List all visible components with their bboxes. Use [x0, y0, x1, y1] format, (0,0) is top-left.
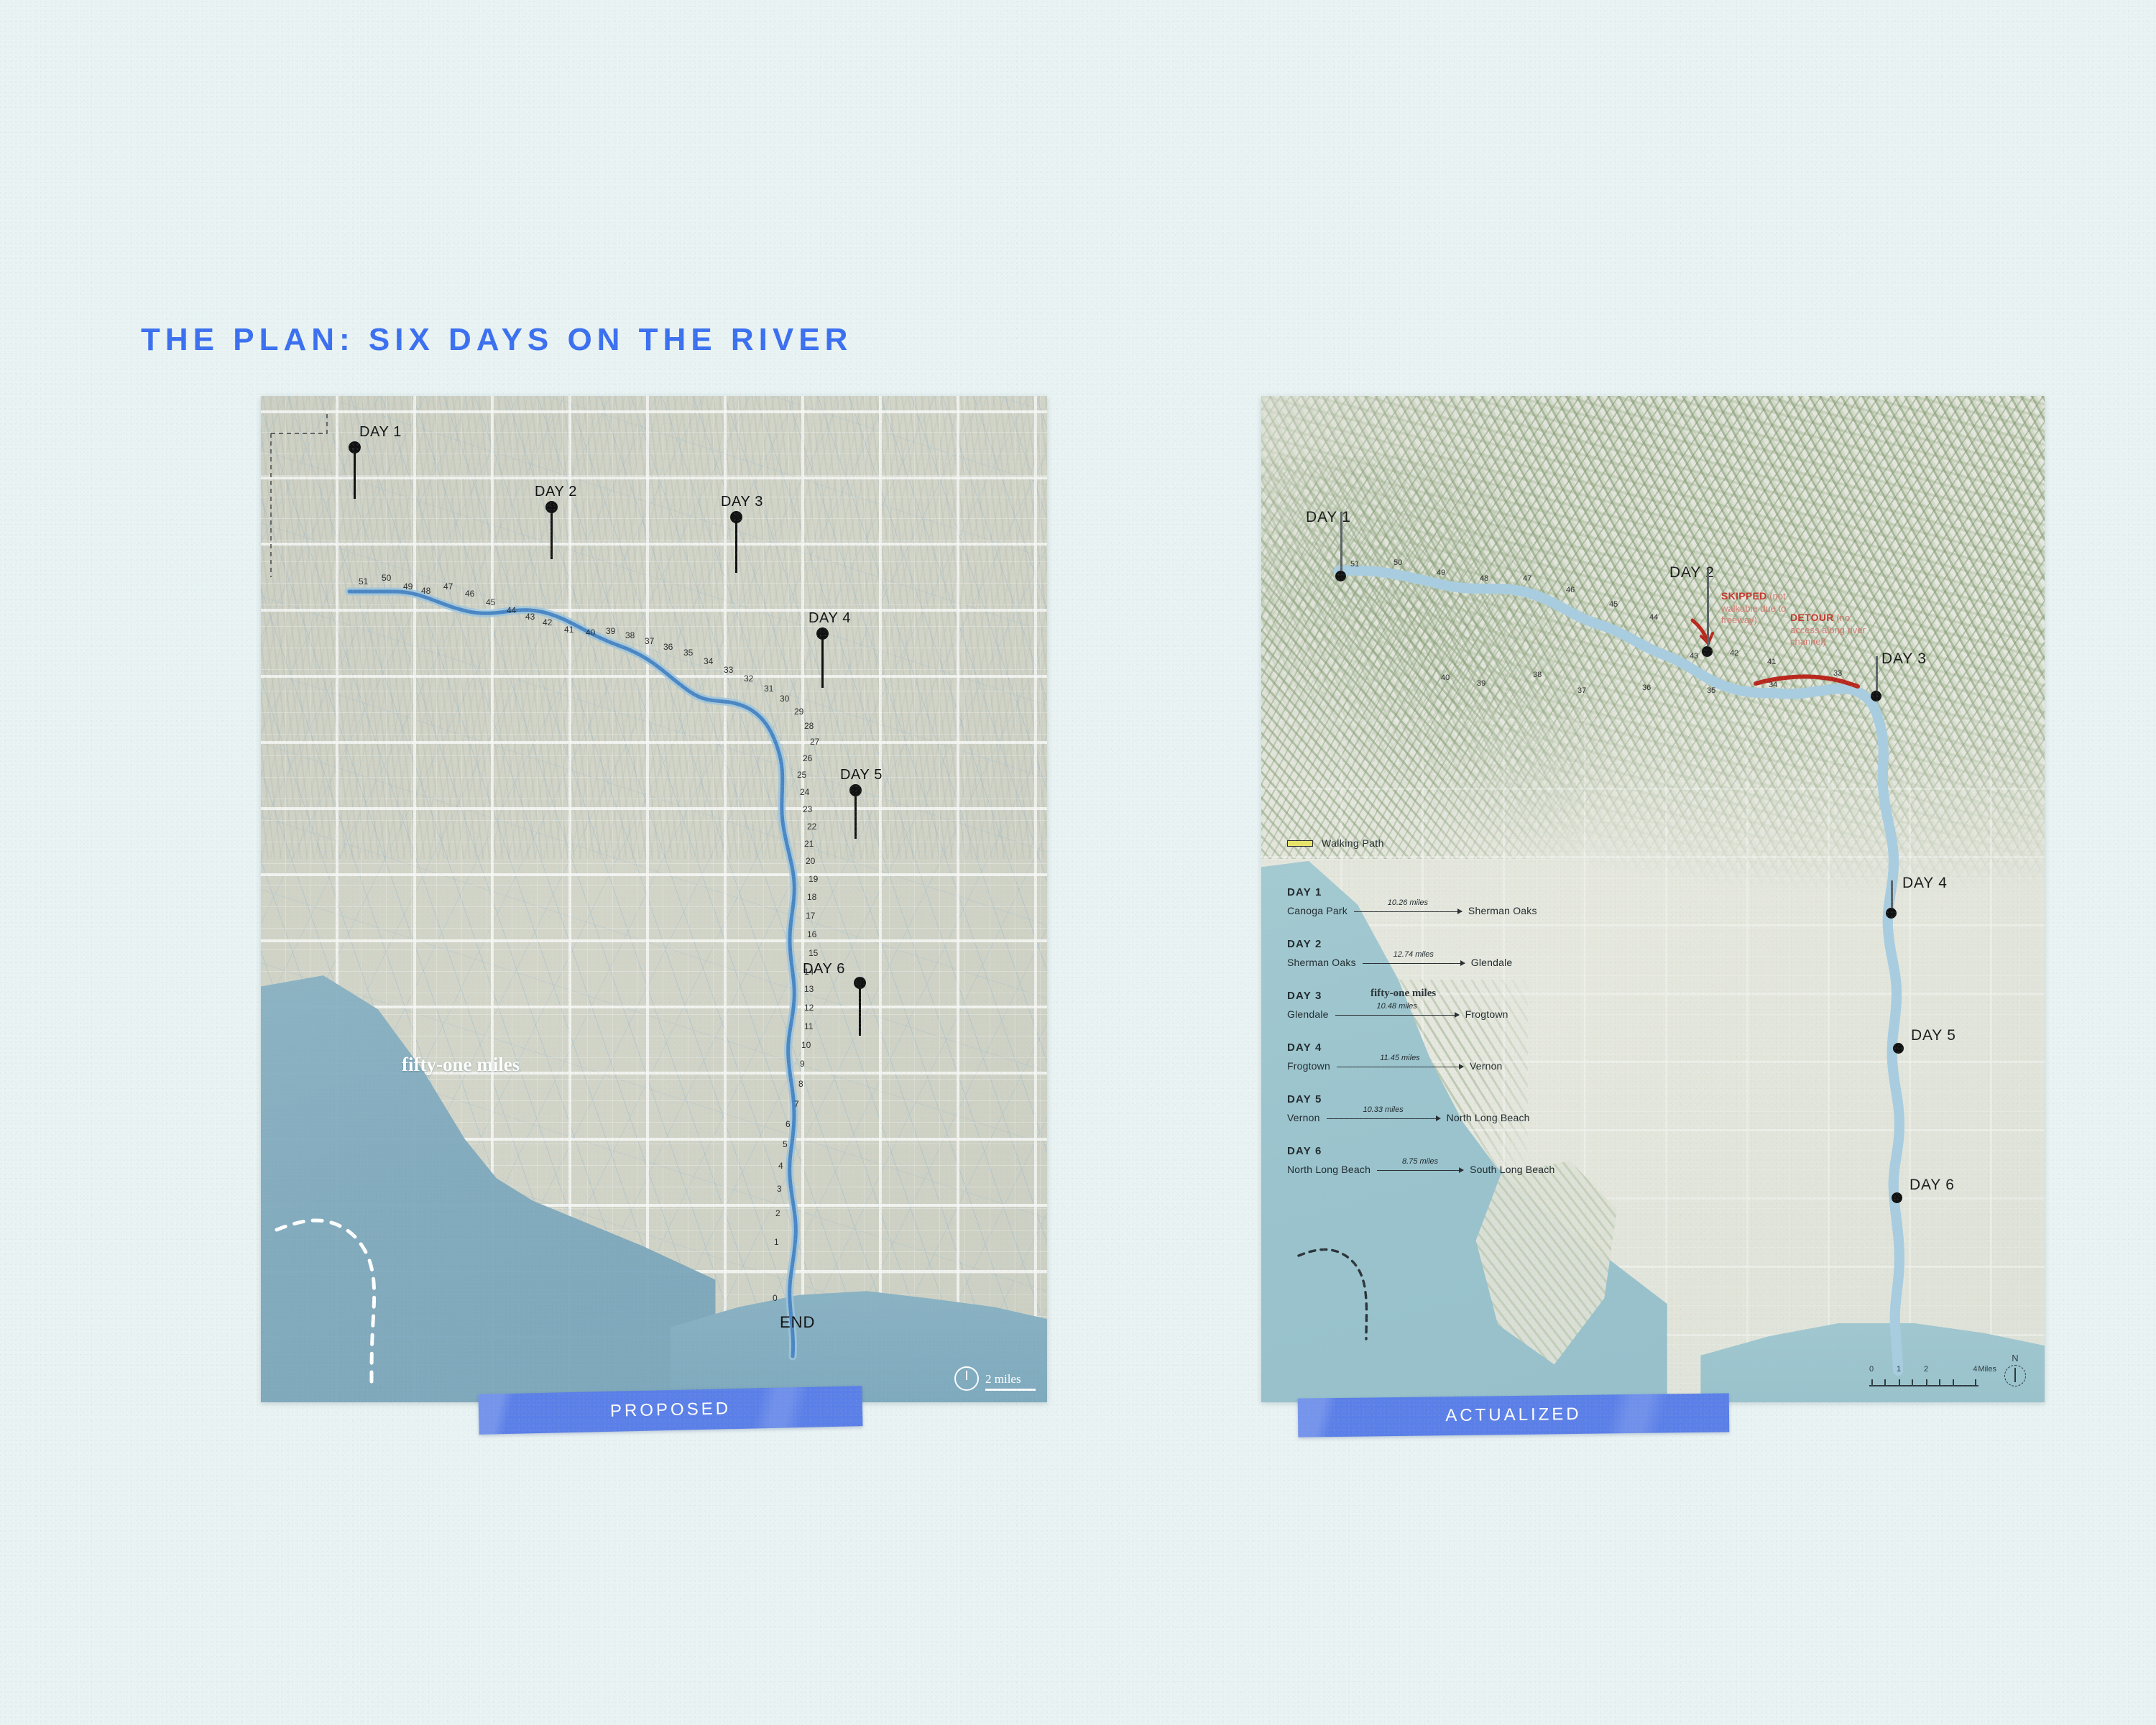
mile-marker: 16 [807, 929, 816, 939]
legend-day-number: DAY 5 [1287, 1093, 1575, 1105]
mile-marker: 44 [507, 605, 516, 615]
legend-arrow: 10.26 miles [1354, 905, 1462, 916]
mile-marker: 28 [804, 721, 814, 731]
legend-day-number: DAY 6 [1287, 1145, 1575, 1157]
legend-distance: 10.26 miles [1388, 898, 1428, 907]
pin-stem-line [1707, 569, 1709, 646]
mile-marker: 24 [800, 787, 809, 797]
legend-day-number: DAY 2 [1287, 938, 1575, 950]
pin-stem-line [1891, 880, 1893, 908]
north-label: N [2004, 1353, 2026, 1363]
legend-day-row: Canoga Park 10.26 miles Sherman Oaks [1287, 905, 1575, 916]
mile-marker: 44 [1649, 613, 1658, 622]
scale-ticks [1869, 1376, 1978, 1386]
legend-distance: 10.48 miles [1377, 1002, 1417, 1011]
pin-stem [859, 983, 861, 1036]
mile-marker: 49 [1437, 569, 1445, 577]
actualized-map-image: DAY 1 DAY 2 DAY 3 DAY 4 DAY 5 DAY 6 51 [1261, 396, 2045, 1402]
annotation-head: DETOUR [1790, 612, 1834, 623]
legend-day-1: DAY 1 Canoga Park 10.26 miles Sherman Oa… [1287, 886, 1575, 916]
banner-label: PROPOSED [610, 1399, 732, 1422]
day-marker-label: DAY 3 [721, 494, 763, 510]
scale-ruler: 0 1 2 4 Miles [1869, 1365, 1978, 1386]
mile-marker: 13 [804, 984, 814, 994]
legend-day-row: Glendale 10.48 miles Frogtown [1287, 1008, 1575, 1020]
actualized-banner[interactable]: ACTUALIZED [1298, 1393, 1730, 1437]
river-route [261, 396, 1047, 1402]
legend-day-row: Sherman Oaks 12.74 miles Glendale [1287, 957, 1575, 968]
legend-arrow: 10.48 miles [1335, 1008, 1459, 1020]
day-marker-label: DAY 4 [808, 610, 851, 627]
pin-dot [1871, 691, 1881, 701]
annotation-head: SKIPPED [1721, 590, 1767, 602]
day-marker-label: DAY 1 [359, 424, 402, 441]
pin-dot [349, 441, 361, 454]
mile-marker: 40 [1441, 673, 1450, 682]
pin-stem [735, 517, 737, 573]
mile-marker: 36 [663, 642, 673, 652]
mile-marker: 37 [645, 636, 654, 646]
end-label: END [780, 1313, 815, 1332]
mile-marker: 47 [443, 581, 453, 592]
pin-dot [1886, 908, 1897, 919]
legend-day-4: DAY 4 Frogtown 11.45 miles Vernon [1287, 1041, 1575, 1072]
mile-marker: 48 [1480, 574, 1488, 583]
legend-day-5: DAY 5 Vernon 10.33 miles North Long Beac… [1287, 1093, 1575, 1123]
mile-marker: 32 [744, 673, 753, 684]
legend: Walking Path DAY 1 Canoga Park 10.26 mil… [1287, 837, 1575, 1197]
mile-marker: 38 [625, 630, 635, 640]
legend-distance: 10.33 miles [1363, 1105, 1403, 1114]
mile-marker: 18 [807, 892, 816, 902]
annotation-detour: DETOUR (no access along river channel) [1790, 612, 1875, 648]
mile-marker: 0 [773, 1293, 778, 1303]
mile-marker: 25 [797, 770, 806, 780]
proposed-map-panel[interactable]: DAY 1 DAY 2 DAY 3 DAY 4 DAY 5 DAY 6 [261, 396, 1047, 1402]
legend-arrow: 10.33 miles [1327, 1112, 1440, 1123]
pin-stem-line [1340, 512, 1342, 571]
legend-arrow: 11.45 miles [1337, 1060, 1463, 1072]
north-arrow-icon [954, 1366, 979, 1391]
proposed-banner[interactable]: PROPOSED [478, 1386, 862, 1435]
legend-day-2: DAY 2 Sherman Oaks 12.74 miles Glendale [1287, 938, 1575, 968]
mile-marker: 46 [465, 589, 474, 599]
pin-dot [849, 784, 862, 796]
mile-marker: 47 [1523, 574, 1531, 583]
mile-marker: 48 [421, 586, 430, 596]
mile-marker: 43 [525, 612, 535, 622]
north-arrow-widget: N [2004, 1353, 2026, 1386]
mile-marker: 38 [1533, 671, 1542, 679]
pin-stem [821, 633, 824, 688]
scale-bar-proposed: 2 miles [954, 1366, 1036, 1391]
legend-distance: 11.45 miles [1380, 1054, 1419, 1062]
day-marker-label: DAY 4 [1902, 875, 1948, 892]
mile-marker: 3 [777, 1184, 782, 1194]
legend-to: North Long Beach [1447, 1112, 1530, 1123]
mile-marker: 2 [775, 1208, 780, 1218]
mile-marker: 26 [803, 753, 812, 763]
scale-tick: 1 [1897, 1365, 1901, 1374]
pin-stem-line [1876, 656, 1878, 691]
mile-marker: 39 [606, 626, 615, 636]
legend-day-row: Frogtown 11.45 miles Vernon [1287, 1060, 1575, 1072]
legend-arrow: 8.75 miles [1377, 1164, 1463, 1175]
mile-marker: 43 [1690, 652, 1698, 661]
legend-day-6: DAY 6 North Long Beach 8.75 miles South … [1287, 1145, 1575, 1175]
scale-tick: 2 [1924, 1365, 1928, 1374]
pin-stem [854, 790, 857, 839]
legend-day-number: DAY 1 [1287, 886, 1575, 898]
mile-marker: 30 [780, 694, 789, 704]
mile-marker: 29 [794, 707, 803, 717]
legend-day-number: DAY 4 [1287, 1041, 1575, 1054]
legend-distance: 12.74 miles [1393, 950, 1434, 959]
scale-tick: 0 [1869, 1365, 1874, 1374]
legend-to: Sherman Oaks [1468, 905, 1537, 916]
pin-stem [354, 447, 356, 499]
mile-marker: 27 [810, 737, 819, 747]
mile-marker: 41 [1767, 658, 1776, 666]
mile-marker: 21 [804, 839, 814, 849]
legend-day-row: Vernon 10.33 miles North Long Beach [1287, 1112, 1575, 1123]
mile-marker: 17 [806, 911, 815, 921]
mile-marker: 9 [800, 1059, 805, 1069]
page-title: THE PLAN: SIX DAYS ON THE RIVER [141, 322, 852, 358]
mile-marker: 34 [704, 656, 713, 666]
north-arrow-icon [2004, 1365, 2026, 1386]
legend-key-walking-path: Walking Path [1287, 837, 1575, 849]
pin-stem [550, 507, 553, 559]
pin-dot [1335, 571, 1346, 581]
scale-measure: 2 miles [985, 1372, 1036, 1391]
mile-marker: 34 [1769, 681, 1777, 689]
mile-marker: 49 [403, 581, 413, 592]
scale-line [985, 1389, 1036, 1391]
mile-marker: 10 [801, 1040, 811, 1050]
legend-day-row: North Long Beach 8.75 miles South Long B… [1287, 1164, 1575, 1175]
mile-marker: 45 [1609, 600, 1618, 609]
mile-marker: 50 [382, 573, 391, 583]
scale-label: 2 miles [985, 1372, 1036, 1386]
total-distance-note: fifty-one miles [402, 1054, 520, 1076]
pin-dot [545, 501, 558, 513]
legend-distance: 8.75 miles [1402, 1157, 1438, 1166]
banner-label: ACTUALIZED [1445, 1404, 1582, 1426]
scale-tick-labels: 0 1 2 4 Miles [1869, 1365, 1978, 1376]
legend-key-label: Walking Path [1322, 837, 1384, 849]
mile-marker: 33 [724, 665, 733, 675]
mile-marker: 35 [1707, 686, 1715, 695]
legend-day-3: DAY 3 Glendale 10.48 miles Frogtown [1287, 990, 1575, 1020]
legend-to: Frogtown [1465, 1008, 1508, 1020]
pin-dot [1893, 1043, 1904, 1054]
mile-marker: 51 [1350, 560, 1359, 569]
mile-marker: 36 [1642, 684, 1651, 692]
mile-marker: 50 [1393, 558, 1402, 567]
mile-marker: 7 [794, 1099, 799, 1109]
legend-from: Glendale [1287, 1008, 1329, 1020]
mile-marker: 46 [1566, 586, 1575, 594]
legend-to: Glendale [1471, 957, 1513, 968]
mile-marker: 20 [806, 856, 815, 866]
mile-marker: 37 [1577, 686, 1586, 695]
mile-marker: 1 [774, 1237, 779, 1247]
day-marker-label: DAY 3 [1881, 650, 1927, 668]
mile-marker: 51 [359, 576, 368, 586]
day-marker-label: DAY 6 [1909, 1177, 1955, 1194]
mile-marker: 39 [1477, 679, 1485, 688]
mile-marker: 15 [808, 948, 818, 958]
legend-from: Vernon [1287, 1112, 1320, 1123]
legend-from: North Long Beach [1287, 1164, 1370, 1175]
pin-dot [730, 511, 742, 523]
mile-marker: 12 [804, 1003, 814, 1013]
walking-path-swatch [1287, 840, 1313, 847]
mile-marker: 42 [1730, 649, 1738, 658]
scale-tick: 4 [1973, 1365, 1977, 1374]
mile-marker: 35 [683, 648, 693, 658]
mile-marker: 11 [804, 1021, 813, 1031]
legend-from: Frogtown [1287, 1060, 1330, 1072]
scale-unit: Miles [1978, 1365, 1996, 1374]
mile-marker: 33 [1833, 669, 1842, 678]
legend-to: South Long Beach [1470, 1164, 1554, 1175]
day-marker-label: DAY 6 [803, 961, 845, 977]
legend-day-number: DAY 3 [1287, 990, 1575, 1002]
mile-marker: 19 [808, 874, 818, 884]
mile-marker: 4 [778, 1161, 783, 1171]
pin-dot [854, 977, 866, 989]
legend-to: Vernon [1470, 1060, 1503, 1072]
day-marker-label: DAY 1 [1306, 509, 1351, 526]
pin-dot [816, 627, 829, 640]
pin-dot [1892, 1192, 1902, 1203]
legend-from: Sherman Oaks [1287, 957, 1356, 968]
day-marker-label: DAY 2 [535, 484, 577, 500]
mile-marker: 6 [786, 1119, 791, 1129]
mile-marker: 40 [586, 627, 595, 638]
mile-marker: 42 [543, 617, 552, 627]
mile-marker: 22 [807, 822, 816, 832]
mile-marker: 31 [764, 684, 773, 694]
actualized-map-panel[interactable]: DAY 1 DAY 2 DAY 3 DAY 4 DAY 5 DAY 6 51 [1261, 396, 2045, 1402]
day-marker-label: DAY 5 [840, 767, 883, 783]
day-marker-label: DAY 5 [1911, 1027, 1956, 1044]
mile-marker: 23 [803, 804, 812, 814]
pin-dot [1702, 646, 1713, 657]
mile-marker: 5 [783, 1139, 788, 1149]
scale-bar-actualized: 0 1 2 4 Miles N [1869, 1353, 2026, 1386]
mile-marker: 41 [564, 625, 573, 635]
mile-marker: 45 [486, 597, 495, 607]
proposed-map-image: DAY 1 DAY 2 DAY 3 DAY 4 DAY 5 DAY 6 [261, 396, 1047, 1402]
legend-from: Canoga Park [1287, 905, 1347, 916]
legend-arrow: 12.74 miles [1363, 957, 1465, 968]
mile-marker: 8 [798, 1079, 803, 1089]
